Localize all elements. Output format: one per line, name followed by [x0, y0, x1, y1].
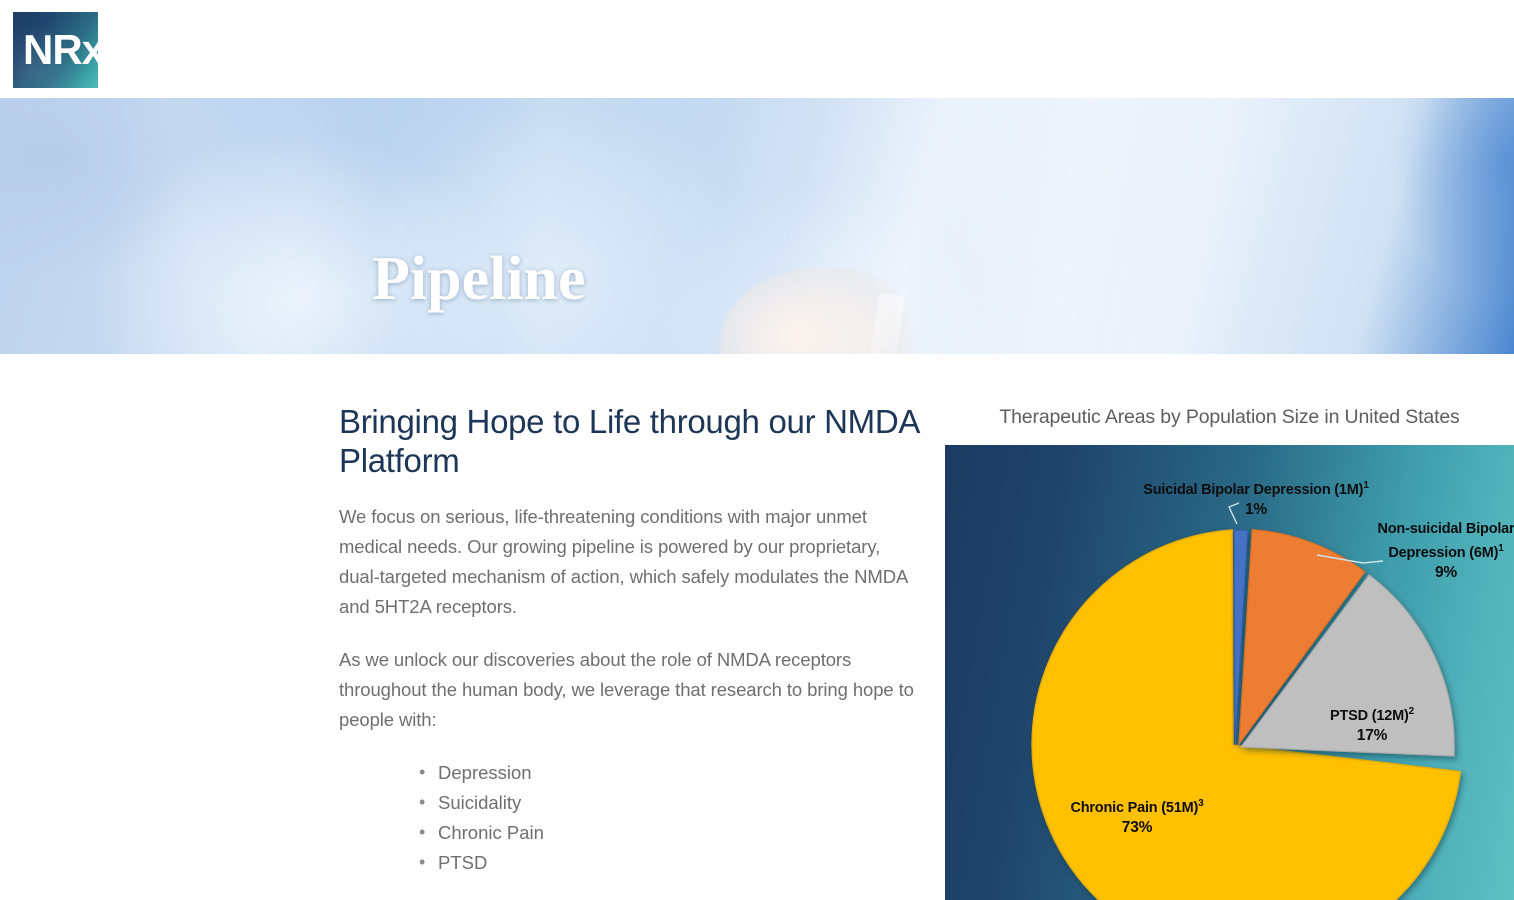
- conditions-list: Depression Suicidality Chronic Pain PTSD: [339, 758, 919, 878]
- list-item: Chronic Pain: [339, 818, 919, 848]
- pie-label-nonsuicidal-title-line1: Non-suicidal Bipolar: [1378, 521, 1514, 537]
- hero-banner: Pipeline: [0, 98, 1514, 354]
- pipeline-page: NRx Pipeline Bringing Hope to Life throu…: [0, 0, 1514, 900]
- logo-text-main: NR: [23, 26, 82, 73]
- pie-label-nonsuicidal-title-line2: Depression (6M): [1388, 545, 1498, 561]
- intro-paragraph-1: We focus on serious, life-threatening co…: [339, 502, 919, 622]
- page-title: Pipeline: [372, 246, 586, 312]
- pie-label-suicidal-title: Suicidal Bipolar Depression (1M): [1143, 482, 1363, 498]
- logo-text-accent: x: [82, 26, 104, 73]
- site-logo[interactable]: NRx: [13, 12, 133, 88]
- intro-column: Bringing Hope to Life through our NMDA P…: [339, 402, 919, 900]
- footnote-marker: 1: [1498, 543, 1503, 554]
- list-item: Suicidality: [339, 788, 919, 818]
- chart-title: Therapeutic Areas by Population Size in …: [945, 406, 1514, 429]
- pie-label-suicidal-percent: 1%: [1046, 500, 1466, 520]
- pie-label-suicidal-bipolar: Suicidal Bipolar Depression (1M)1 1%: [1046, 476, 1466, 520]
- site-header: NRx: [0, 0, 1514, 98]
- intro-paragraph-2: As we unlock our discoveries about the r…: [339, 645, 919, 735]
- pie-label-nonsuicidal-bipolar: Non-suicidal Bipolar Depression (6M)1 9%: [1330, 519, 1514, 583]
- pie-label-ptsd: PTSD (12M)2 17%: [1262, 702, 1482, 746]
- list-item: Depression: [339, 758, 919, 788]
- pie-label-chronic-percent: 73%: [1002, 818, 1272, 838]
- footnote-marker: 2: [1409, 706, 1414, 717]
- footnote-marker: 3: [1198, 798, 1203, 809]
- list-item: PTSD: [339, 848, 919, 878]
- logo-wordmark: NRx: [23, 26, 104, 74]
- pie-label-ptsd-percent: 17%: [1262, 726, 1482, 746]
- main-content: Bringing Hope to Life through our NMDA P…: [0, 354, 1514, 900]
- pie-label-nonsuicidal-percent: 9%: [1330, 563, 1514, 583]
- pie-label-chronic-pain: Chronic Pain (51M)3 73%: [1002, 794, 1272, 838]
- pie-label-chronic-title: Chronic Pain (51M): [1070, 800, 1198, 816]
- footnote-marker: 1: [1363, 480, 1368, 491]
- section-heading: Bringing Hope to Life through our NMDA P…: [339, 402, 919, 480]
- pie-label-ptsd-title: PTSD (12M): [1330, 708, 1409, 724]
